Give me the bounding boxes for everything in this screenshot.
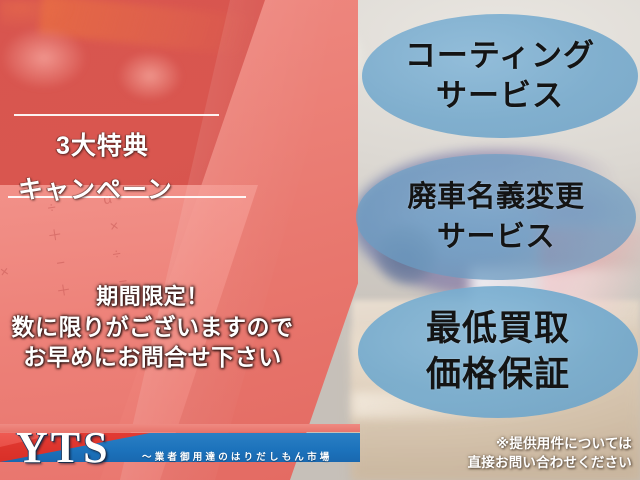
company-logo-bar: YTS 〜業者御用達のはりだしもん市場 [0, 430, 360, 466]
divider-line-top [14, 114, 219, 116]
promo-banner: × ÷ α ＋ × × − ÷ ＋ − 3大特典 キャンペーン 期間限定！ 数に… [0, 0, 640, 480]
badge-3-line-2: 価格保証 [426, 352, 570, 398]
badge-2-line-2: サービス [437, 217, 555, 257]
promo-line-3: お早めにお問合せ下さい [0, 342, 305, 372]
promo-line-2: 数に限りがございますので [0, 312, 305, 342]
badge-scrap-title-transfer-service: 廃車名義変更 サービス [356, 154, 636, 280]
badge-1-line-1: コーティング [405, 36, 595, 76]
badge-2-line-1: 廃車名義変更 [407, 177, 584, 217]
badge-1-line-2: サービス [436, 76, 564, 116]
headline-line-2: キャンペーン [18, 170, 268, 206]
promo-message: 期間限定！ 数に限りがございますので お早めにお問合せ下さい [0, 282, 305, 372]
logo-tagline: 〜業者御用達のはりだしもん市場 [142, 449, 333, 463]
badge-coating-service: コーティング サービス [362, 14, 638, 138]
badge-lowest-price-guarantee: 最低買取 価格保証 [358, 286, 638, 418]
promo-line-1: 期間限定！ [0, 282, 305, 312]
headline-line-1: 3大特典 [56, 126, 268, 162]
campaign-headline: 3大特典 キャンペーン [18, 126, 268, 206]
badge-3-line-1: 最低買取 [426, 306, 570, 352]
footnote-line-2: 直接お問い合わせください [380, 453, 632, 472]
footnote-note: ※提供用件については 直接お問い合わせください [380, 434, 632, 472]
logo-wordmark: YTS [16, 428, 111, 468]
footnote-line-1: ※提供用件については [380, 434, 632, 453]
panel-top-flares [0, 0, 200, 120]
